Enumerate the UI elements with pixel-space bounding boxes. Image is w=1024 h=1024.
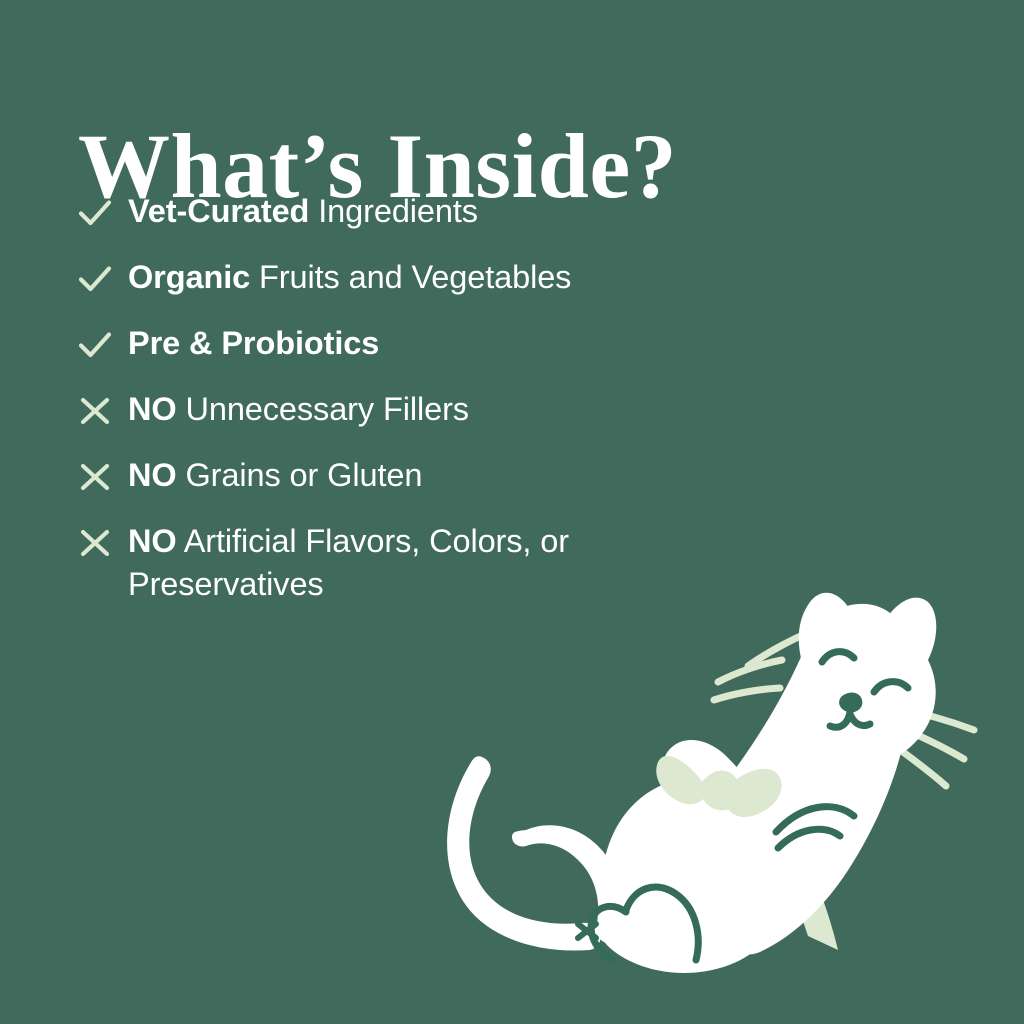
check-icon xyxy=(72,190,118,236)
benefit-strong: NO xyxy=(128,457,177,493)
benefit-rest: Fruits and Vegetables xyxy=(250,259,571,295)
benefit-item: NO Unnecessary Fillers xyxy=(72,386,772,434)
cross-icon xyxy=(72,454,118,500)
benefits-list: Vet-Curated Ingredients Organic Fruits a… xyxy=(72,188,772,624)
check-icon xyxy=(72,322,118,368)
benefit-rest: Grains or Gluten xyxy=(177,457,423,493)
benefit-strong: Pre & Probiotics xyxy=(128,325,379,361)
benefit-item: Vet-Curated Ingredients xyxy=(72,188,772,236)
benefit-item: NO Grains or Gluten xyxy=(72,452,772,500)
benefit-rest: Ingredients xyxy=(309,193,478,229)
benefit-label: Vet-Curated Ingredients xyxy=(118,188,772,233)
benefit-strong: Organic xyxy=(128,259,250,295)
cross-icon xyxy=(72,520,118,566)
check-icon xyxy=(72,256,118,302)
cat-illustration xyxy=(430,588,1010,998)
benefit-label: NO Unnecessary Fillers xyxy=(118,386,772,431)
benefit-rest: Unnecessary Fillers xyxy=(177,391,469,427)
poster-canvas: What’s Inside? Vet-Curated Ingredients O… xyxy=(0,0,1024,1024)
benefit-label: Pre & Probiotics xyxy=(118,320,772,365)
benefit-item: Organic Fruits and Vegetables xyxy=(72,254,772,302)
benefit-strong: Vet-Curated xyxy=(128,193,309,229)
benefit-item: Pre & Probiotics xyxy=(72,320,772,368)
benefit-label: NO Grains or Gluten xyxy=(118,452,772,497)
cross-icon xyxy=(72,388,118,434)
benefit-label: Organic Fruits and Vegetables xyxy=(118,254,772,299)
benefit-strong: NO xyxy=(128,523,177,559)
benefit-strong: NO xyxy=(128,391,177,427)
